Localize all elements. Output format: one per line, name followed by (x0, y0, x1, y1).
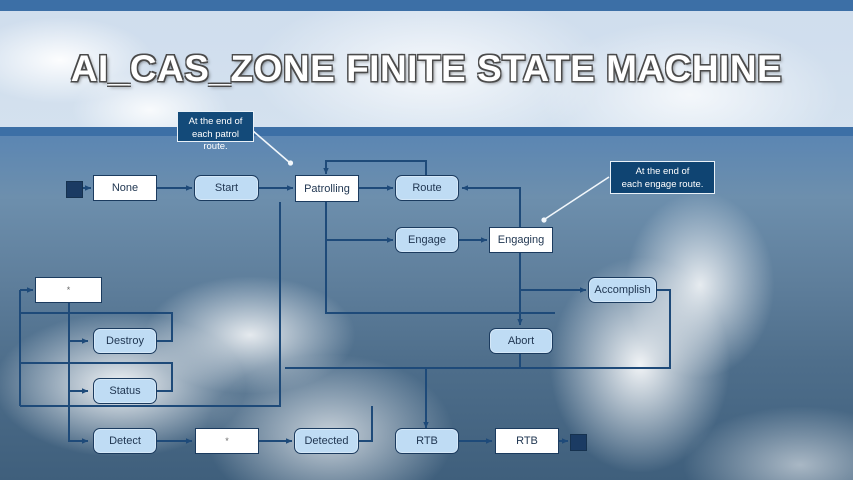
state-none[interactable]: None (93, 175, 157, 201)
final-state-marker (570, 434, 587, 451)
callout-patrol-line2: each patrol route. (184, 129, 247, 154)
state-abort[interactable]: Abort (489, 328, 553, 354)
state-route[interactable]: Route (395, 175, 459, 201)
state-rtb-final[interactable]: RTB (495, 428, 559, 454)
state-engage[interactable]: Engage (395, 227, 459, 253)
state-start[interactable]: Start (194, 175, 259, 201)
callout-engage-line1: At the end of (617, 166, 708, 179)
callout-patrol-line1: At the end of (184, 116, 247, 129)
state-detected[interactable]: Detected (294, 428, 359, 454)
callout-patrol-route: At the end of each patrol route. (177, 111, 254, 142)
callout-engage-route: At the end of each engage route. (610, 161, 715, 194)
state-accomplish[interactable]: Accomplish (588, 277, 657, 303)
callout-engage-line2: each engage route. (617, 179, 708, 192)
state-patrolling[interactable]: Patrolling (295, 175, 359, 202)
state-wildcard-bottom[interactable]: * (195, 428, 259, 454)
initial-state-marker (66, 181, 83, 198)
state-destroy[interactable]: Destroy (93, 328, 157, 354)
slide-canvas: AI_CAS_ZONE FINITE STATE MACHINE (0, 0, 853, 480)
state-engaging[interactable]: Engaging (489, 227, 553, 253)
state-wildcard-left[interactable]: * (35, 277, 102, 303)
state-rtb-transition[interactable]: RTB (395, 428, 459, 454)
state-detect[interactable]: Detect (93, 428, 157, 454)
state-status[interactable]: Status (93, 378, 157, 404)
